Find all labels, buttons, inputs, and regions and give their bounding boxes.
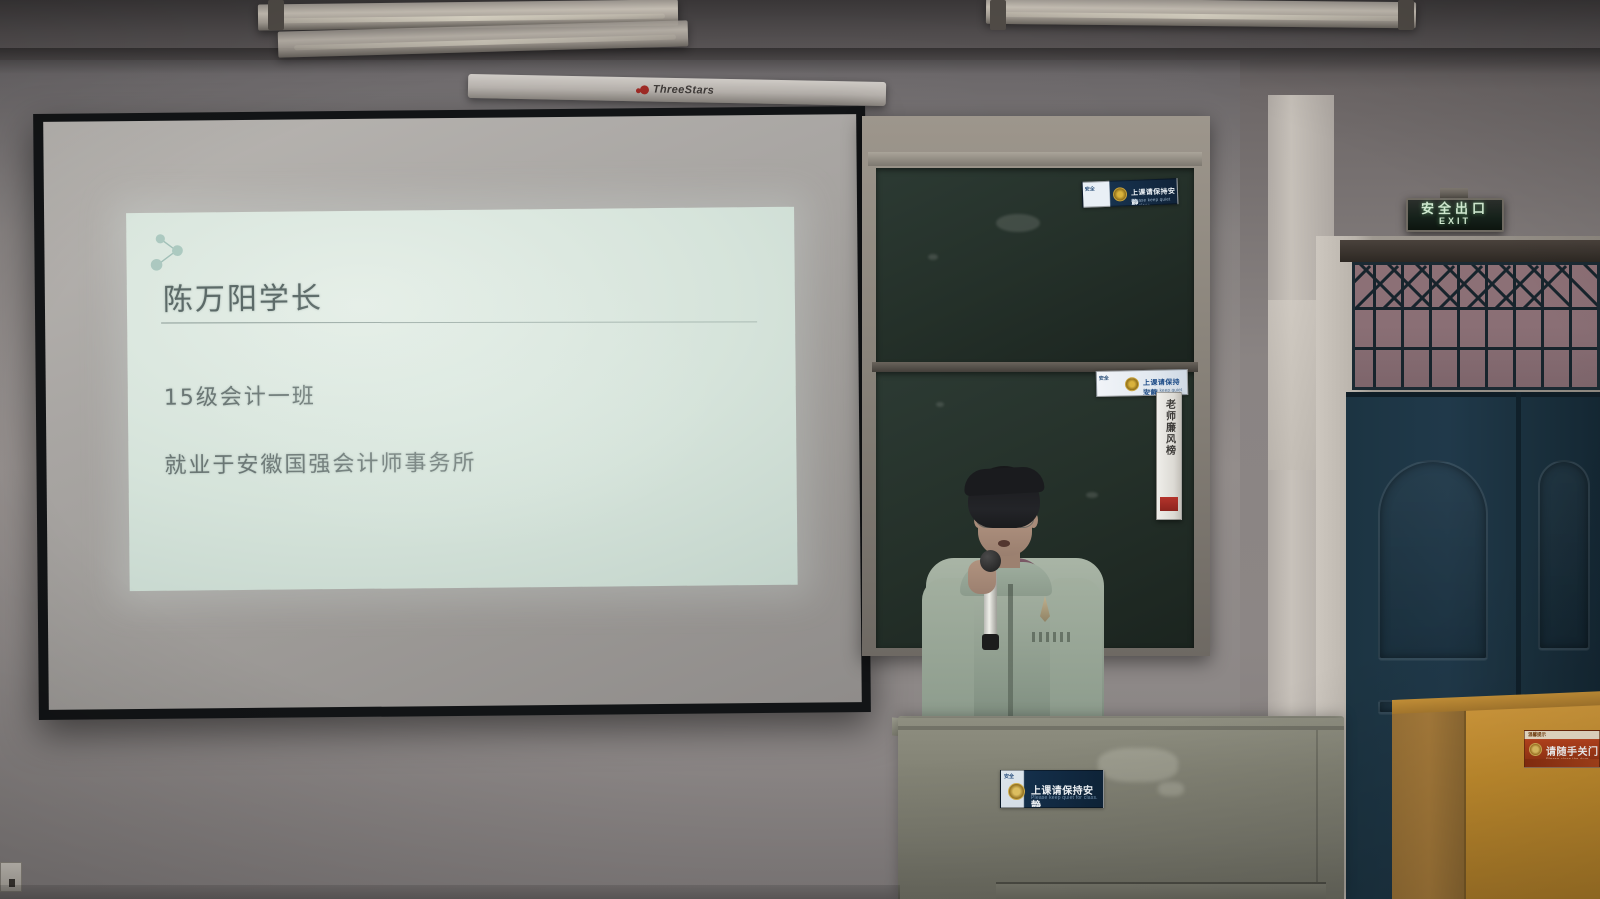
exit-sign-cn-label: 安全出口 — [1421, 203, 1489, 216]
classroom-scene: ThreeStars 陈万阳学长 15级会计一班 就业于安徽国强会计师事务所 — [0, 0, 1600, 899]
door-panel-upper-right — [1538, 460, 1590, 650]
hair-fringe — [963, 466, 1044, 496]
transom-window — [1352, 262, 1600, 390]
floor-shadow — [0, 885, 900, 899]
screen-surface: 陈万阳学长 15级会计一班 就业于安徽国强会计师事务所 — [43, 114, 862, 710]
blackboard-quiet-notice: 安全 上课请保持安静 Please keep quiet for class. — [1082, 178, 1179, 208]
mouth — [998, 540, 1010, 547]
screen-brand-label: ThreeStars — [653, 84, 715, 97]
jacket-placket — [1008, 584, 1013, 726]
door-panel-upper-left — [1378, 460, 1488, 660]
slide-body-line-2: 就业于安徽国强会计师事务所 — [164, 445, 476, 480]
tube-end-cap — [990, 0, 1006, 30]
fluorescent-tube — [986, 0, 1416, 28]
notice-footer-bar — [1525, 759, 1599, 767]
wall-patch — [1268, 300, 1320, 470]
speaker-person — [920, 466, 1110, 726]
door-header — [1340, 240, 1600, 262]
notice-en-label: Please keep quiet for class. — [1031, 795, 1098, 801]
notice-seal-icon — [1008, 783, 1025, 800]
notice-tag-label: 安全 — [1004, 773, 1014, 780]
podium-drawer[interactable] — [996, 882, 1326, 899]
podium-front-edge — [898, 726, 1344, 730]
jacket-trim — [1032, 632, 1072, 642]
exit-sign: 安全出口 EXIT — [1406, 198, 1504, 232]
tube-glass — [294, 34, 675, 50]
podium-side-seam — [1316, 730, 1318, 899]
notice-head-label: 温馨提示 — [1528, 732, 1546, 738]
notice-tag-label: 安全 — [1099, 375, 1109, 382]
teacher-conduct-sign: 老师廉风榜 — [1156, 392, 1182, 520]
node-cluster-icon — [146, 230, 198, 274]
notice-tag-label: 安全 — [1085, 185, 1095, 192]
projected-slide: 陈万阳学长 15级会计一班 就业于安徽国强会计师事务所 — [126, 207, 798, 591]
microphone-base — [982, 634, 999, 650]
vertical-sign-label: 老师廉风榜 — [1162, 399, 1177, 457]
slide-title: 陈万阳学长 — [163, 273, 323, 319]
notice-seal-icon — [1125, 377, 1139, 391]
podium — [898, 718, 1344, 899]
threestars-logo-icon — [640, 85, 649, 94]
tube-end-cap — [1398, 0, 1414, 30]
right-arm — [1050, 578, 1102, 726]
microphone-head-icon — [980, 550, 1001, 572]
tube-glass — [1003, 11, 1403, 20]
tube-glass — [275, 13, 666, 23]
notice-seal-icon — [1113, 187, 1128, 202]
close-door-notice: 温馨提示 请随手关门 Please close the door — [1524, 730, 1600, 768]
left-arm — [922, 578, 974, 726]
tube-end-cap — [268, 0, 284, 30]
cabinet-side — [1392, 710, 1466, 899]
podium-quiet-notice: 安全 上课请保持安静 Please keep quiet for class. — [1000, 770, 1104, 808]
ceiling-shadow — [0, 48, 1600, 74]
notice-seal-icon — [1529, 743, 1542, 756]
vertical-sign-footer — [1160, 497, 1178, 511]
slide-body-line-1: 15级会计一班 — [164, 378, 316, 411]
blackboard-top-lip — [868, 152, 1202, 166]
exit-sign-en-label: EXIT — [1439, 216, 1471, 227]
projector-screen: 陈万阳学长 15级会计一班 就业于安徽国强会计师事务所 — [33, 106, 871, 720]
slide-title-rule — [161, 321, 757, 323]
